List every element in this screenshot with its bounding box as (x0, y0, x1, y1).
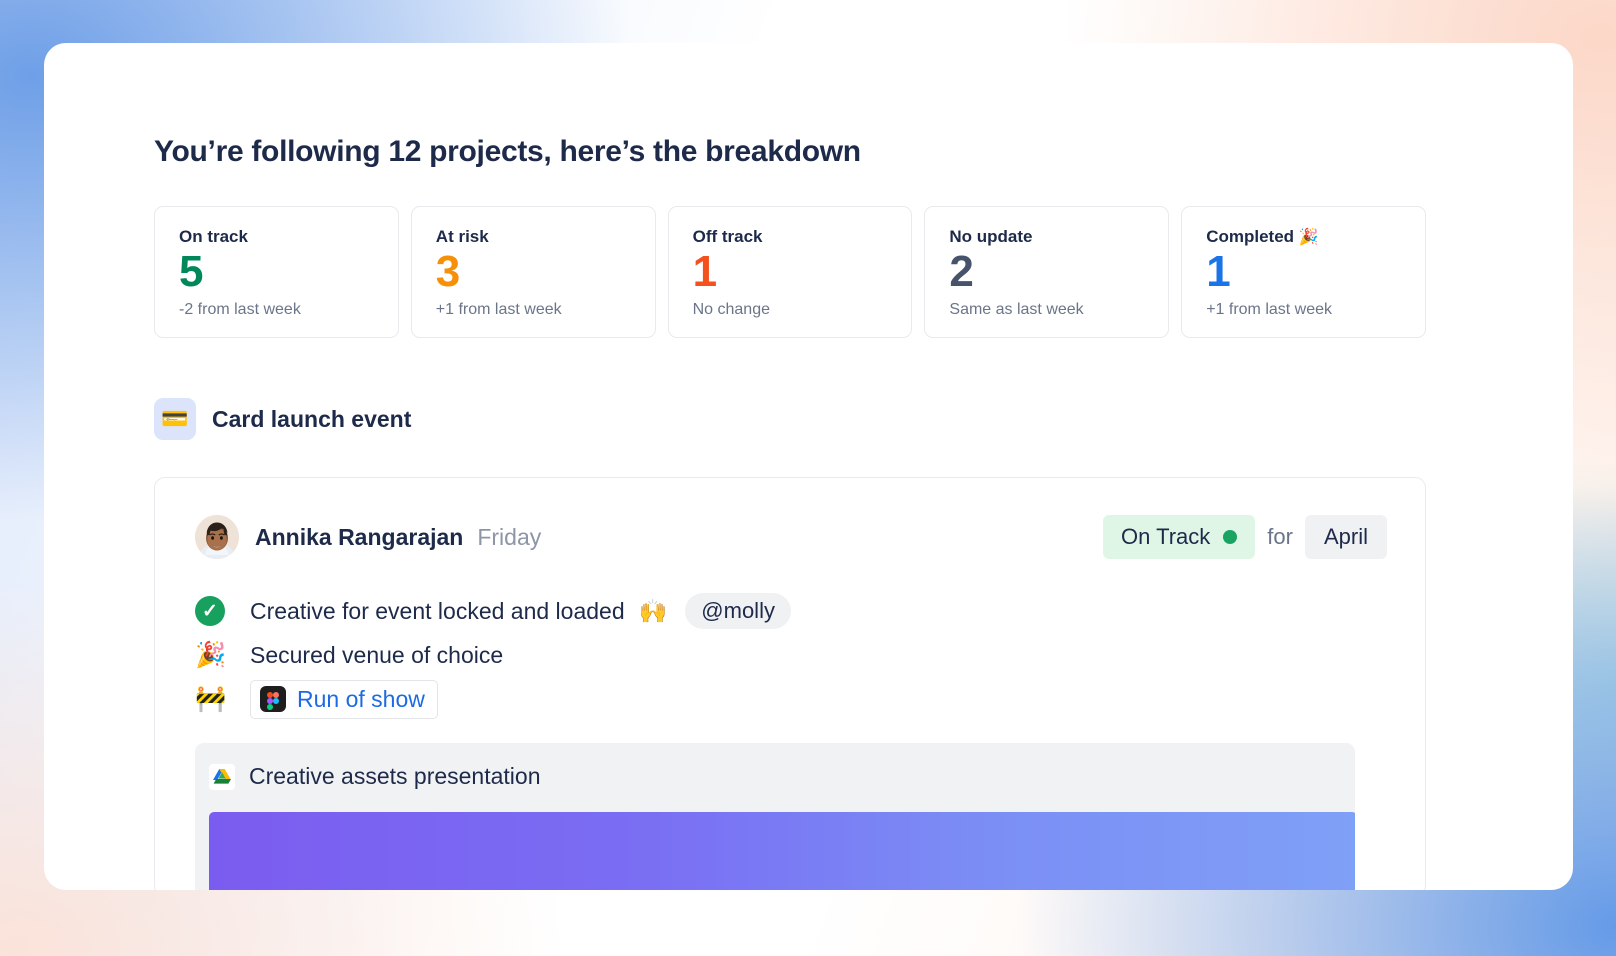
stat-label: Completed 🎉 (1206, 227, 1403, 247)
stat-card-on-track[interactable]: On track 5 -2 from last week (154, 206, 399, 338)
author-name: Annika Rangarajan (255, 524, 463, 551)
project-header[interactable]: 💳 Card launch event (154, 398, 1573, 440)
construction-sign-emoji: 🚧 (195, 687, 229, 712)
figma-link-label[interactable]: Run of show (297, 686, 425, 713)
status-for-label: for (1267, 524, 1293, 550)
stat-delta: No change (693, 301, 890, 319)
list-item: ✓ Creative for event locked and loaded 🙌… (195, 589, 1425, 633)
avatar[interactable] (195, 515, 239, 559)
list-item-label: Creative for event locked and loaded (250, 598, 625, 625)
stat-card-off-track[interactable]: Off track 1 No change (668, 206, 913, 338)
stat-delta: +1 from last week (1206, 301, 1403, 319)
credit-card-icon: 💳 (154, 398, 196, 440)
status-badge[interactable]: On Track (1103, 515, 1255, 559)
stat-delta: Same as last week (949, 301, 1146, 319)
stat-value: 1 (693, 249, 890, 294)
google-drive-icon (209, 764, 235, 790)
list-item: 🚧 Run of show (195, 677, 1425, 721)
check-circle-icon: ✓ (195, 596, 229, 626)
figma-icon (260, 686, 286, 712)
update-day: Friday (477, 524, 541, 551)
attachment-preview[interactable]: Creative assets presentation (195, 743, 1355, 890)
list-item: 🎉 Secured venue of choice (195, 633, 1425, 677)
party-popper-emoji: 🎉 (1299, 229, 1319, 246)
stat-value: 2 (949, 249, 1146, 294)
project-name[interactable]: Card launch event (212, 406, 411, 433)
stat-card-no-update[interactable]: No update 2 Same as last week (924, 206, 1169, 338)
stat-card-completed[interactable]: Completed 🎉 1 +1 from last week (1181, 206, 1426, 338)
credit-card-emoji: 💳 (161, 408, 188, 430)
update-bullet-list: ✓ Creative for event locked and loaded 🙌… (195, 589, 1425, 721)
stat-label: No update (949, 227, 1146, 247)
page-background: You’re following 12 projects, here’s the… (0, 0, 1616, 956)
main-card: You’re following 12 projects, here’s the… (44, 43, 1573, 890)
list-item-label: Secured venue of choice (250, 642, 503, 669)
party-popper-emoji: 🎉 (195, 643, 229, 668)
status-dot-icon (1223, 530, 1237, 544)
stat-card-at-risk[interactable]: At risk 3 +1 from last week (411, 206, 656, 338)
mention-chip[interactable]: @molly (685, 593, 791, 629)
stat-label: On track (179, 227, 376, 247)
page-title: You’re following 12 projects, here’s the… (154, 135, 1573, 169)
status-badge-label: On Track (1121, 524, 1210, 550)
stat-label: At risk (436, 227, 633, 247)
status-group: On Track for April (1103, 515, 1387, 559)
month-badge[interactable]: April (1305, 515, 1387, 559)
status-summary-row: On track 5 -2 from last week At risk 3 +… (154, 206, 1426, 338)
stat-value: 1 (1206, 249, 1403, 294)
stat-delta: -2 from last week (179, 301, 376, 319)
stat-value: 5 (179, 249, 376, 294)
stat-value: 3 (436, 249, 633, 294)
update-author-row: Annika Rangarajan Friday On Track for Ap… (195, 515, 1387, 559)
stat-label: Off track (693, 227, 890, 247)
raising-hands-emoji: 🙌 (639, 598, 668, 625)
attachment-title: Creative assets presentation (249, 763, 541, 790)
status-update-card: Annika Rangarajan Friday On Track for Ap… (154, 477, 1426, 890)
stat-delta: +1 from last week (436, 301, 633, 319)
figma-link-chip[interactable]: Run of show (250, 680, 438, 719)
attachment-thumbnail[interactable] (209, 812, 1355, 890)
attachment-header: Creative assets presentation (209, 763, 1355, 790)
